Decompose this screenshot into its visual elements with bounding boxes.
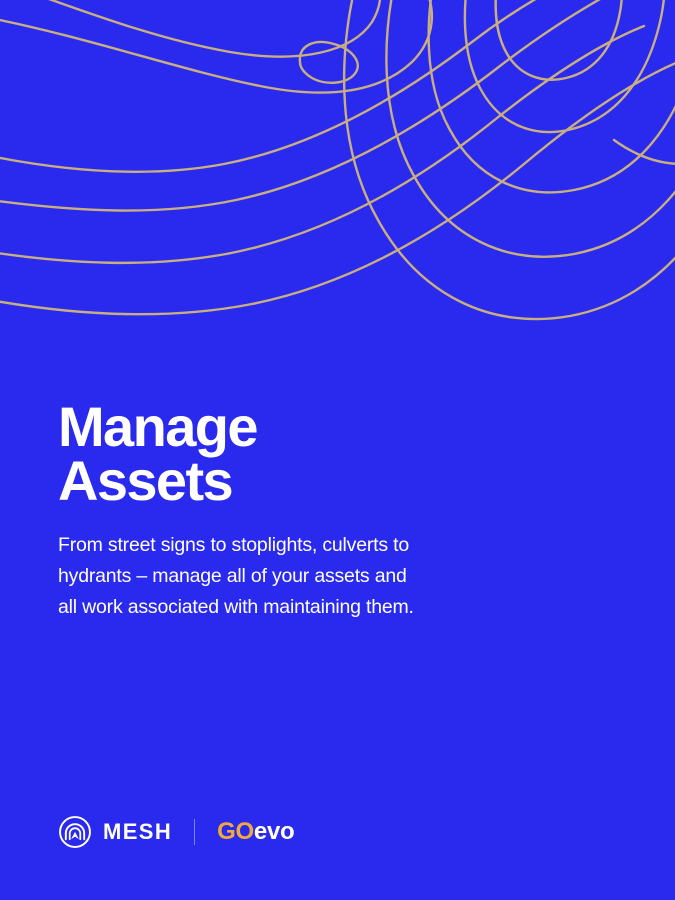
- goevo-logo: GOevo: [217, 820, 294, 844]
- topographic-contour-lines: [0, 0, 675, 340]
- page-title: Manage Assets: [58, 400, 478, 508]
- text-block: Manage Assets From street signs to stopl…: [58, 400, 478, 623]
- page-description: From street signs to stoplights, culvert…: [58, 508, 428, 623]
- mesh-wordmark: MESH: [103, 821, 172, 843]
- footer-logo-lockup: MESH GOevo: [58, 812, 294, 852]
- goevo-wordmark-evo: evo: [254, 818, 294, 845]
- logo-divider: [194, 819, 195, 845]
- poster-card: Manage Assets From street signs to stopl…: [0, 0, 675, 900]
- goevo-wordmark-go: GO: [217, 818, 254, 845]
- mesh-logo-mark: [58, 815, 92, 849]
- mesh-logo: MESH: [58, 815, 172, 849]
